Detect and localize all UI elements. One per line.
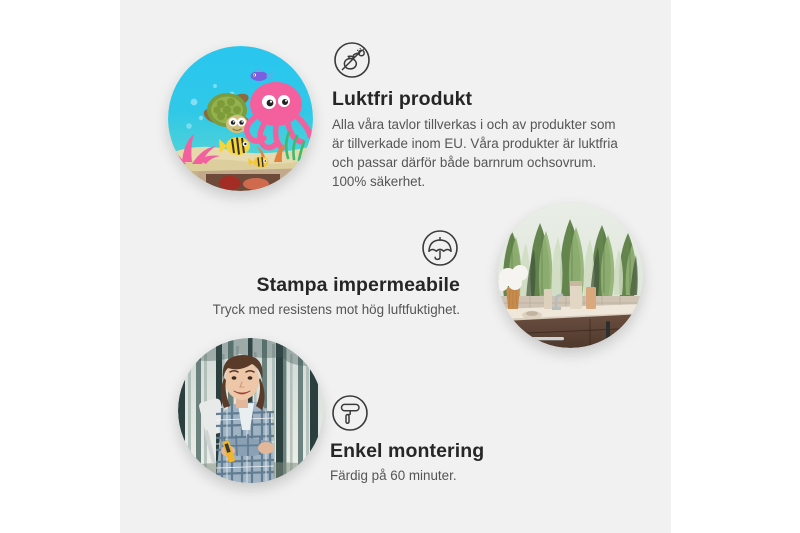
feature-waterproof: Stampa impermeabile Tryck med resistens … bbox=[205, 228, 460, 319]
feature-odourless: Luktfri produkt Alla våra tavlor tillver… bbox=[332, 40, 624, 192]
feature-assembly-title: Enkel montering bbox=[330, 440, 590, 463]
no-fragrance-icon bbox=[332, 40, 624, 80]
product-photo-bathroom-image bbox=[498, 203, 643, 348]
product-photo-underwater-image bbox=[168, 46, 313, 191]
feature-waterproof-title: Stampa impermeabile bbox=[205, 274, 460, 297]
feature-odourless-title: Luktfri produkt bbox=[332, 88, 624, 111]
feature-assembly: Enkel montering Färdig på 60 minuter. bbox=[330, 393, 590, 485]
feature-waterproof-description: Tryck med resistens mot hög luftfuktighe… bbox=[205, 300, 460, 319]
product-photo-bathroom bbox=[498, 203, 643, 348]
product-photo-forest-image bbox=[178, 338, 323, 483]
product-photo-underwater bbox=[168, 46, 313, 191]
umbrella-icon bbox=[205, 228, 460, 268]
product-photo-forest bbox=[178, 338, 323, 483]
paint-roller-icon bbox=[330, 393, 590, 433]
feature-assembly-description: Färdig på 60 minuter. bbox=[330, 466, 590, 485]
feature-banner: Luktfri produkt Alla våra tavlor tillver… bbox=[0, 0, 800, 533]
feature-odourless-description: Alla våra tavlor tillverkas i och av pro… bbox=[332, 115, 624, 191]
